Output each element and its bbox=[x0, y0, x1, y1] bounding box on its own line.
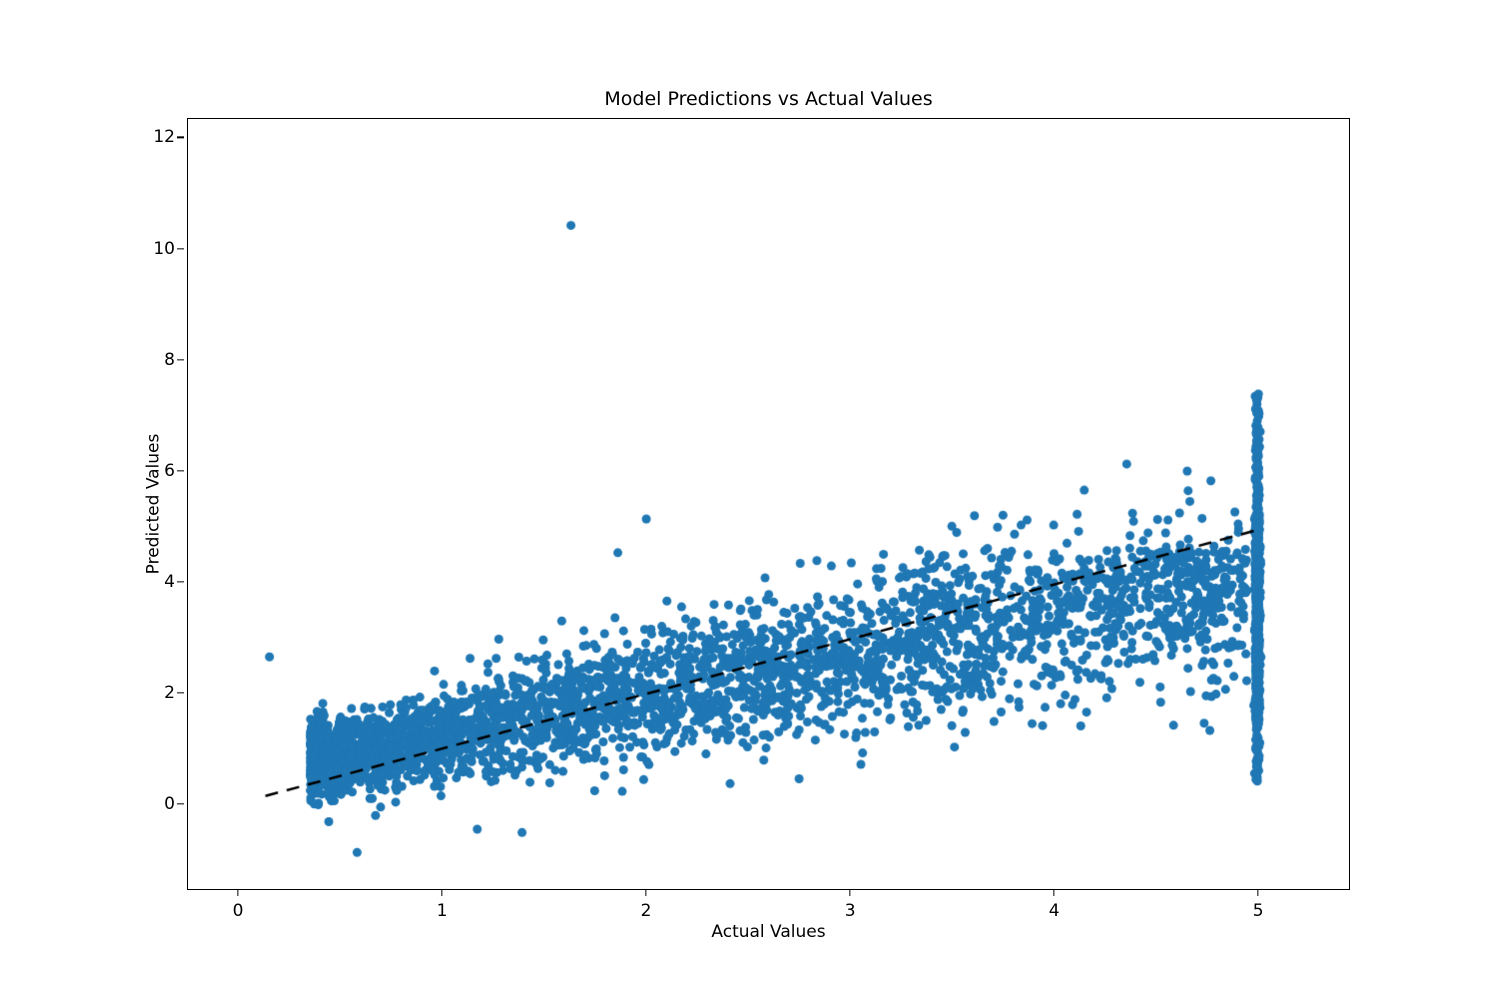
x-tick-label: 3 bbox=[845, 901, 856, 921]
x-tick-mark bbox=[237, 889, 238, 896]
x-tick-mark bbox=[1258, 889, 1259, 896]
x-axis-label: Actual Values bbox=[187, 922, 1350, 942]
y-axis-label-holder: Predicted Values bbox=[133, 118, 173, 890]
y-tick-mark bbox=[177, 470, 184, 471]
y-tick-mark bbox=[177, 692, 184, 693]
x-tick-label: 1 bbox=[437, 901, 448, 921]
chart-title: Model Predictions vs Actual Values bbox=[187, 88, 1350, 110]
x-tick-label: 4 bbox=[1049, 901, 1060, 921]
x-tick-label: 5 bbox=[1253, 901, 1264, 921]
x-tick-mark bbox=[849, 889, 850, 896]
plot-axes bbox=[187, 118, 1350, 890]
x-tick-mark bbox=[441, 889, 442, 896]
x-tick-label: 2 bbox=[641, 901, 652, 921]
y-tick-mark bbox=[177, 581, 184, 582]
x-tick-label: 0 bbox=[233, 901, 244, 921]
figure-canvas: Model Predictions vs Actual Values 02468… bbox=[0, 0, 1500, 1000]
scatter-plot-canvas bbox=[188, 119, 1349, 889]
x-tick-mark bbox=[1053, 889, 1054, 896]
y-axis-label: Predicted Values bbox=[143, 434, 163, 575]
y-tick-mark bbox=[177, 803, 184, 804]
x-tick-mark bbox=[645, 889, 646, 896]
y-tick-mark bbox=[177, 137, 184, 138]
y-tick-mark bbox=[177, 248, 184, 249]
y-tick-mark bbox=[177, 359, 184, 360]
